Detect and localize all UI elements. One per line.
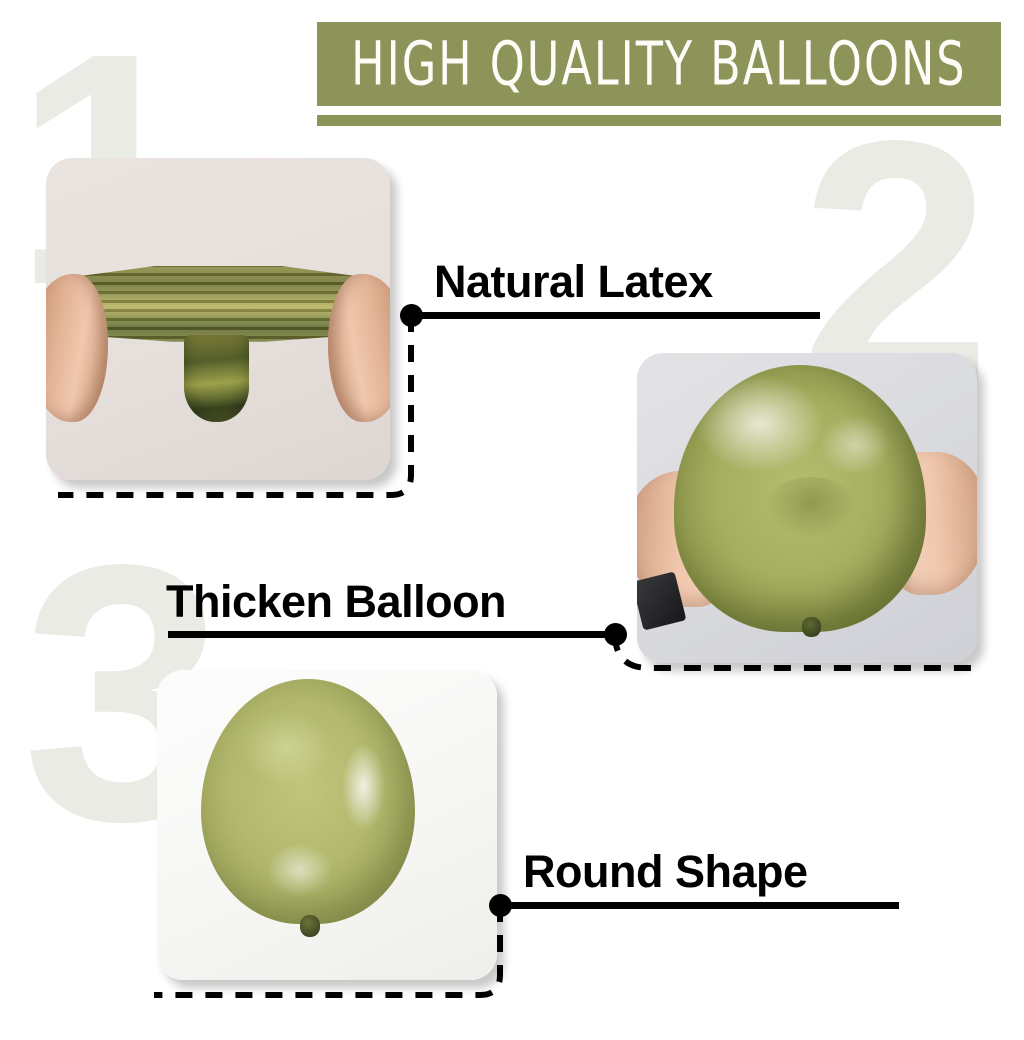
callout-dot bbox=[400, 304, 423, 327]
balloon-knot-shape bbox=[300, 915, 320, 937]
latex-drip-shape bbox=[184, 335, 249, 422]
right-thumb-shape bbox=[328, 274, 390, 422]
callout-rule bbox=[500, 902, 899, 909]
feature-photo-thicken-balloon bbox=[637, 353, 977, 663]
balloon-knot-shape bbox=[802, 617, 821, 637]
callout-label-natural-latex: Natural Latex bbox=[434, 256, 713, 308]
callout-dot bbox=[604, 623, 627, 646]
feature-photo-round-shape bbox=[157, 670, 497, 980]
callout-rule bbox=[411, 312, 820, 319]
photo-stretched-latex bbox=[46, 158, 390, 480]
callout-rule bbox=[168, 631, 616, 638]
photo-round-balloon bbox=[157, 670, 497, 980]
infographic-canvas: 1 2 3 HIGH QUALITY BALLOONS bbox=[0, 0, 1024, 1024]
photo-squeezed-balloon bbox=[637, 353, 977, 663]
callout-label-round-shape: Round Shape bbox=[523, 846, 808, 898]
callout-dot bbox=[489, 894, 512, 917]
feature-photo-natural-latex bbox=[46, 158, 390, 480]
header-banner-underbar bbox=[317, 115, 1001, 126]
callout-label-thicken-balloon: Thicken Balloon bbox=[166, 576, 506, 628]
page-title: HIGH QUALITY BALLOONS bbox=[351, 29, 966, 100]
balloon-dent-shape bbox=[766, 477, 854, 539]
header-banner: HIGH QUALITY BALLOONS bbox=[317, 22, 1001, 106]
